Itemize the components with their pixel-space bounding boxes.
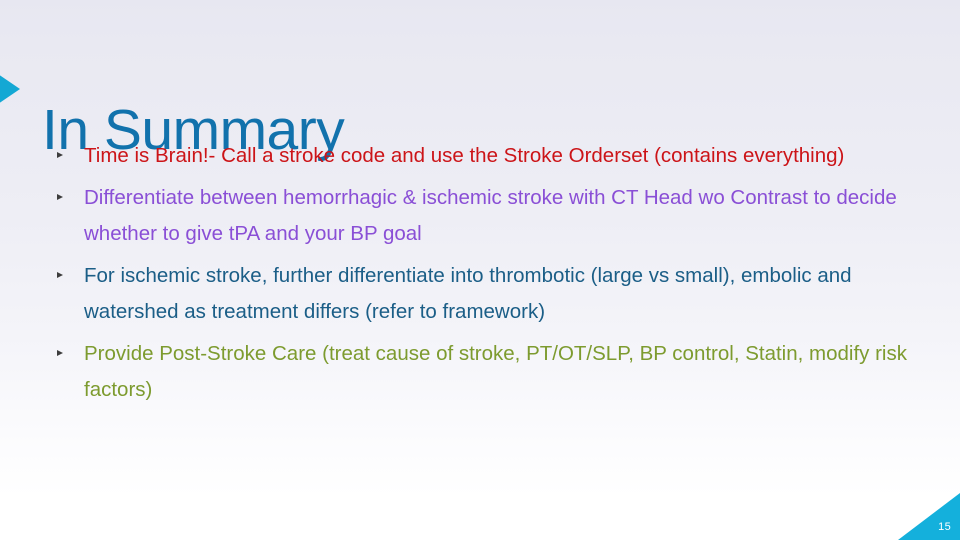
list-item-text: Provide Post-Stroke Care (treat cause of… <box>84 336 920 408</box>
slide: In Summary Time is Brain!- Call a stroke… <box>0 0 960 540</box>
arrow-bullet-icon <box>57 152 63 158</box>
arrow-bullet-icon <box>57 350 63 356</box>
list-item-text: Time is Brain!- Call a stroke code and u… <box>84 138 920 174</box>
page-number: 15 <box>938 521 951 534</box>
triangle-right-icon <box>0 70 20 108</box>
list-item-text: Differentiate between hemorrhagic & isch… <box>84 180 920 252</box>
list-item: Differentiate between hemorrhagic & isch… <box>0 180 930 252</box>
slide-title-row: In Summary <box>0 52 960 132</box>
arrow-bullet-icon <box>57 194 63 200</box>
arrow-bullet-icon <box>57 272 63 278</box>
bullet-list: Time is Brain!- Call a stroke code and u… <box>0 138 930 414</box>
list-item: Time is Brain!- Call a stroke code and u… <box>0 138 930 174</box>
list-item-text: For ischemic stroke, further differentia… <box>84 258 920 330</box>
list-item: For ischemic stroke, further differentia… <box>0 258 930 330</box>
list-item: Provide Post-Stroke Care (treat cause of… <box>0 336 930 408</box>
